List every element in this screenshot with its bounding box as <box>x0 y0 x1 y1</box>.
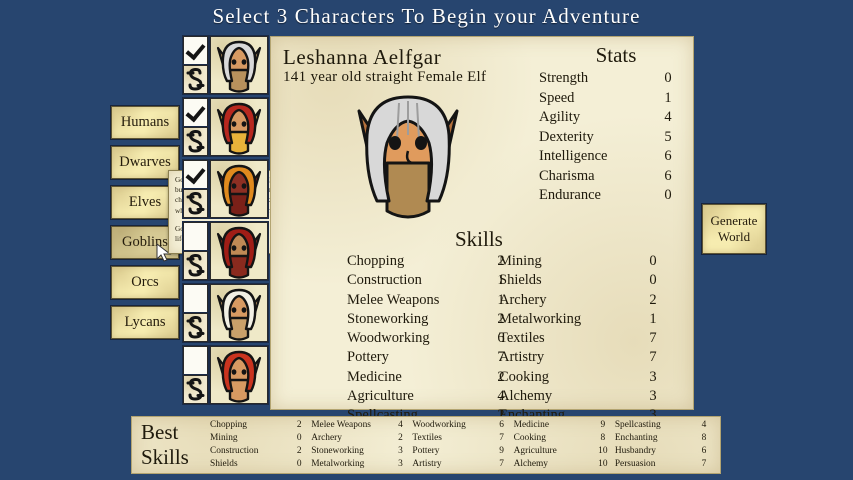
skill-label: Stoneworking <box>347 310 428 329</box>
best-skills-column: Chopping2Mining0Construction2Shields0 <box>210 419 311 472</box>
race-button-humans[interactable]: Humans <box>111 106 179 139</box>
best-skill-value: 4 <box>392 419 408 432</box>
best-skills-column: Medicine9Cooking8Agriculture10Alchemy10 <box>514 419 615 472</box>
best-skill-label: Stoneworking <box>311 445 364 458</box>
character-name: Leshanna Aelfgar <box>283 45 441 70</box>
skill-row: Pottery7 <box>347 348 511 367</box>
character-thumbnail[interactable] <box>210 160 268 218</box>
character-list-item[interactable] <box>183 36 268 96</box>
best-skills-label-line-1: Best <box>141 420 210 445</box>
character-detail-panel: Leshanna Aelfgar 141 year old straight F… <box>270 36 694 410</box>
best-skill-row: Mining0 <box>210 432 307 445</box>
reroll-icon[interactable] <box>183 189 208 218</box>
best-skill-value: 10 <box>595 458 611 471</box>
best-skill-label: Alchemy <box>514 458 548 471</box>
character-thumbnail[interactable] <box>210 36 268 94</box>
best-skill-label: Woodworking <box>412 419 465 432</box>
skill-row: Shields0 <box>499 271 663 290</box>
best-skill-row: Enchanting8 <box>615 432 712 445</box>
best-skills-label: Best Skills <box>132 420 210 470</box>
skill-value: 3 <box>643 387 663 406</box>
stat-value: 6 <box>657 167 679 187</box>
best-skill-row: Persuasion7 <box>615 458 712 471</box>
character-checkbox-checked[interactable] <box>183 98 208 127</box>
skill-row: Artistry7 <box>499 348 663 367</box>
skill-value: 2 <box>643 291 663 310</box>
skill-value: 7 <box>643 329 663 348</box>
character-thumbnail[interactable] <box>210 222 268 280</box>
best-skill-row: Construction2 <box>210 445 307 458</box>
best-skill-value: 2 <box>392 432 408 445</box>
race-button-label: Orcs <box>131 274 158 290</box>
reroll-icon[interactable] <box>183 65 208 94</box>
skill-label: Agriculture <box>347 387 414 406</box>
race-button-orcs[interactable]: Orcs <box>111 266 179 299</box>
skill-row: Stoneworking2 <box>347 310 511 329</box>
stat-row: Charisma6 <box>539 167 679 187</box>
best-skill-label: Artistry <box>412 458 441 471</box>
skill-label: Chopping <box>347 252 404 271</box>
stat-label: Charisma <box>539 167 595 187</box>
skill-label: Shields <box>499 271 542 290</box>
skill-row: Cooking3 <box>499 368 663 387</box>
reroll-icon[interactable] <box>183 313 208 342</box>
skill-label: Archery <box>499 291 547 310</box>
best-skill-row: Cooking8 <box>514 432 611 445</box>
best-skill-value: 6 <box>696 445 712 458</box>
best-skills-panel: Best Skills Chopping2Mining0Construction… <box>131 416 721 474</box>
skill-label: Woodworking <box>347 329 430 348</box>
skills-title: Skills <box>455 227 503 252</box>
best-skill-row: Shields0 <box>210 458 307 471</box>
reroll-icon[interactable] <box>183 375 208 404</box>
best-skill-value: 3 <box>392 458 408 471</box>
skill-label: Pottery <box>347 348 389 367</box>
best-skill-row: Husbandry6 <box>615 445 712 458</box>
skill-row: Mining0 <box>499 252 663 271</box>
character-checkbox-unchecked[interactable] <box>183 346 208 375</box>
skill-value: 1 <box>643 310 663 329</box>
race-button-label: Elves <box>129 194 161 210</box>
character-list-item[interactable] <box>183 160 268 220</box>
page-title: Select 3 Characters To Begin your Advent… <box>0 4 853 29</box>
skill-label: Melee Weapons <box>347 291 439 310</box>
best-skill-row: Pottery9 <box>412 445 509 458</box>
stats-title: Stats <box>539 43 679 68</box>
best-skill-row: Metalworking3 <box>311 458 408 471</box>
best-skill-value: 0 <box>291 432 307 445</box>
best-skill-label: Cooking <box>514 432 546 445</box>
stat-label: Strength <box>539 69 588 89</box>
best-skill-row: Melee Weapons4 <box>311 419 408 432</box>
stat-label: Intelligence <box>539 147 607 167</box>
best-skill-value: 7 <box>696 458 712 471</box>
stat-row: Dexterity5 <box>539 128 679 148</box>
skill-row: Chopping2 <box>347 252 511 271</box>
best-skills-columns: Chopping2Mining0Construction2Shields0Mel… <box>210 419 720 472</box>
best-skill-value: 9 <box>595 419 611 432</box>
character-list-item[interactable] <box>183 98 268 158</box>
best-skill-label: Husbandry <box>615 445 656 458</box>
character-checkbox-checked[interactable] <box>183 36 208 65</box>
best-skill-label: Melee Weapons <box>311 419 371 432</box>
character-thumbnail[interactable] <box>210 284 268 342</box>
best-skill-value: 2 <box>291 419 307 432</box>
reroll-icon[interactable] <box>183 127 208 156</box>
best-skill-row: Textiles7 <box>412 432 509 445</box>
character-description: 141 year old straight Female Elf <box>283 69 486 86</box>
stat-row: Agility4 <box>539 108 679 128</box>
stat-row: Speed1 <box>539 89 679 109</box>
stat-row: Intelligence6 <box>539 147 679 167</box>
best-skill-value: 7 <box>494 432 510 445</box>
character-selection-list <box>183 36 268 410</box>
skill-row: Textiles7 <box>499 329 663 348</box>
best-skill-value: 0 <box>291 458 307 471</box>
skill-row: Woodworking6 <box>347 329 511 348</box>
character-controls <box>183 36 208 94</box>
skill-value: 7 <box>643 348 663 367</box>
reroll-icon[interactable] <box>183 251 208 280</box>
stat-label: Dexterity <box>539 128 594 148</box>
best-skill-value: 2 <box>291 445 307 458</box>
stat-label: Agility <box>539 108 580 128</box>
best-skills-column: Woodworking6Textiles7Pottery9Artistry7 <box>412 419 513 472</box>
best-skill-row: Alchemy10 <box>514 458 611 471</box>
best-skill-value: 3 <box>392 445 408 458</box>
best-skills-label-line-2: Skills <box>141 445 210 470</box>
generate-world-line-2: World <box>703 229 765 245</box>
character-list-item[interactable] <box>183 284 268 344</box>
best-skill-value: 6 <box>494 419 510 432</box>
race-button-lycans[interactable]: Lycans <box>111 306 179 339</box>
skill-label: Cooking <box>499 368 549 387</box>
stat-value: 6 <box>657 147 679 167</box>
skill-label: Mining <box>499 252 542 271</box>
race-button-label: Lycans <box>124 314 165 330</box>
skill-label: Artistry <box>499 348 544 367</box>
best-skill-label: Mining <box>210 432 238 445</box>
stat-label: Speed <box>539 89 574 109</box>
stat-value: 0 <box>657 69 679 89</box>
character-controls <box>183 160 208 218</box>
skill-value: 0 <box>643 252 663 271</box>
skill-label: Medicine <box>347 368 402 387</box>
skill-row: Construction1 <box>347 271 511 290</box>
best-skills-column: Spellcasting4Enchanting8Husbandry6Persua… <box>615 419 716 472</box>
best-skill-row: Spellcasting4 <box>615 419 712 432</box>
stat-row: Strength0 <box>539 69 679 89</box>
character-checkbox-checked[interactable] <box>183 160 208 189</box>
stat-value: 1 <box>657 89 679 109</box>
best-skill-row: Archery2 <box>311 432 408 445</box>
best-skill-label: Persuasion <box>615 458 656 471</box>
generate-world-button[interactable]: Generate World <box>702 204 766 254</box>
skill-row: Archery2 <box>499 291 663 310</box>
skill-row: Medicine2 <box>347 368 511 387</box>
race-button-label: Goblins <box>122 234 168 250</box>
stat-value: 5 <box>657 128 679 148</box>
best-skills-column: Melee Weapons4Archery2Stoneworking3Metal… <box>311 419 412 472</box>
best-skill-value: 9 <box>494 445 510 458</box>
best-skill-label: Metalworking <box>311 458 364 471</box>
best-skill-value: 4 <box>696 419 712 432</box>
character-controls <box>183 346 208 404</box>
best-skill-label: Chopping <box>210 419 247 432</box>
skill-label: Alchemy <box>499 387 552 406</box>
best-skill-value: 7 <box>494 458 510 471</box>
best-skill-row: Stoneworking3 <box>311 445 408 458</box>
skill-label: Textiles <box>499 329 545 348</box>
character-thumbnail[interactable] <box>210 346 268 404</box>
best-skill-label: Pottery <box>412 445 439 458</box>
best-skill-label: Construction <box>210 445 258 458</box>
character-portrait <box>333 89 483 229</box>
skill-label: Construction <box>347 271 422 290</box>
skill-row: Melee Weapons1 <box>347 291 511 310</box>
skill-label: Metalworking <box>499 310 581 329</box>
best-skill-row: Agriculture10 <box>514 445 611 458</box>
character-list-item[interactable] <box>183 346 268 406</box>
race-button-label: Dwarves <box>119 154 171 170</box>
stats-block: Stats Strength0Speed1Agility4Dexterity5I… <box>539 43 679 206</box>
stat-value: 0 <box>657 186 679 206</box>
best-skill-label: Textiles <box>412 432 442 445</box>
best-skill-label: Agriculture <box>514 445 557 458</box>
best-skill-label: Enchanting <box>615 432 658 445</box>
skill-row: Alchemy3 <box>499 387 663 406</box>
best-skill-label: Archery <box>311 432 342 445</box>
stat-value: 4 <box>657 108 679 128</box>
best-skill-label: Shields <box>210 458 238 471</box>
game-screen: Select 3 Characters To Begin your Advent… <box>0 0 853 480</box>
character-list-item[interactable] <box>183 222 268 282</box>
best-skill-value: 8 <box>696 432 712 445</box>
generate-world-line-1: Generate <box>703 213 765 229</box>
best-skill-row: Medicine9 <box>514 419 611 432</box>
skill-row: Metalworking1 <box>499 310 663 329</box>
character-controls <box>183 98 208 156</box>
best-skill-row: Chopping2 <box>210 419 307 432</box>
character-checkbox-unchecked[interactable] <box>183 222 208 251</box>
stat-label: Endurance <box>539 186 601 206</box>
stats-rows: Strength0Speed1Agility4Dexterity5Intelli… <box>539 69 679 206</box>
race-button-label: Humans <box>121 114 169 130</box>
skill-row: Agriculture4 <box>347 387 511 406</box>
character-controls <box>183 284 208 342</box>
skill-value: 0 <box>643 271 663 290</box>
best-skill-label: Medicine <box>514 419 549 432</box>
skill-value: 3 <box>643 368 663 387</box>
character-thumbnail[interactable] <box>210 98 268 156</box>
best-skill-row: Woodworking6 <box>412 419 509 432</box>
best-skill-value: 10 <box>595 445 611 458</box>
best-skill-row: Artistry7 <box>412 458 509 471</box>
character-checkbox-unchecked[interactable] <box>183 284 208 313</box>
best-skill-label: Spellcasting <box>615 419 661 432</box>
stat-row: Endurance0 <box>539 186 679 206</box>
character-controls <box>183 222 208 280</box>
best-skill-value: 8 <box>595 432 611 445</box>
